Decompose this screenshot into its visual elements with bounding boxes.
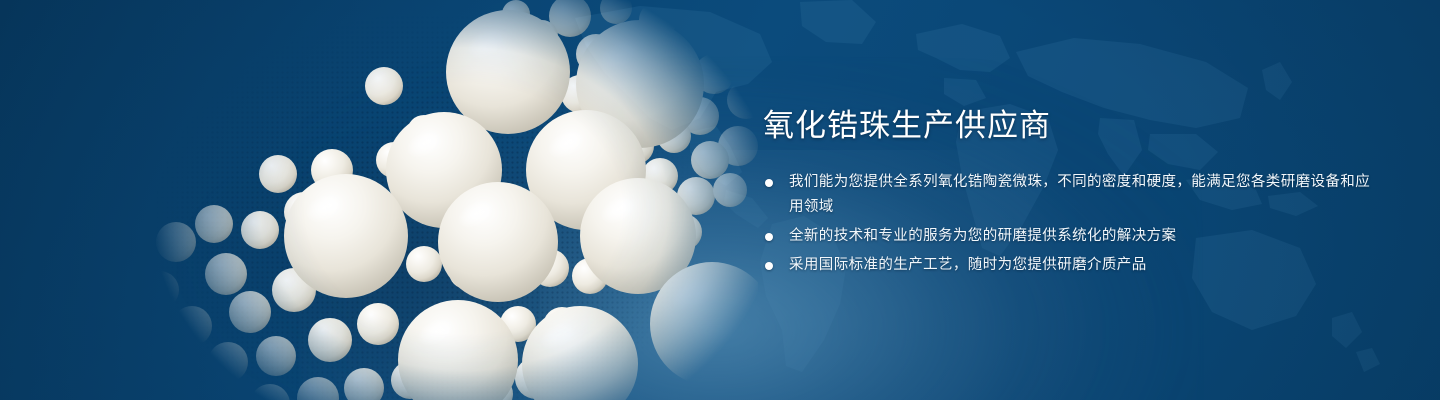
banner-copy: 氧化锆珠生产供应商 我们能为您提供全系列氧化锆陶瓷微珠，不同的密度和硬度，能满足… xyxy=(763,106,1383,278)
list-item-label: 全新的技术和专业的服务为您的研磨提供系统化的解决方案 xyxy=(789,228,1176,244)
list-item-label: 我们能为您提供全系列氧化锆陶瓷微珠，不同的密度和硬度，能满足您各类研磨设备和应用… xyxy=(789,174,1370,215)
list-item: 我们能为您提供全系列氧化锆陶瓷微珠，不同的密度和硬度，能满足您各类研磨设备和应用… xyxy=(763,170,1383,220)
bullet-dot-icon xyxy=(765,233,773,241)
page-title: 氧化锆珠生产供应商 xyxy=(763,106,1383,146)
bullet-dot-icon xyxy=(765,179,773,187)
list-item: 全新的技术和专业的服务为您的研磨提供系统化的解决方案 xyxy=(763,224,1383,249)
list-item: 采用国际标准的生产工艺，随时为您提供研磨介质产品 xyxy=(763,253,1383,278)
list-item-label: 采用国际标准的生产工艺，随时为您提供研磨介质产品 xyxy=(789,257,1147,273)
bullet-dot-icon xyxy=(765,262,773,270)
hero-banner: 氧化锆珠生产供应商 我们能为您提供全系列氧化锆陶瓷微珠，不同的密度和硬度，能满足… xyxy=(0,0,1440,400)
feature-bullet-list: 我们能为您提供全系列氧化锆陶瓷微珠，不同的密度和硬度，能满足您各类研磨设备和应用… xyxy=(763,170,1383,278)
